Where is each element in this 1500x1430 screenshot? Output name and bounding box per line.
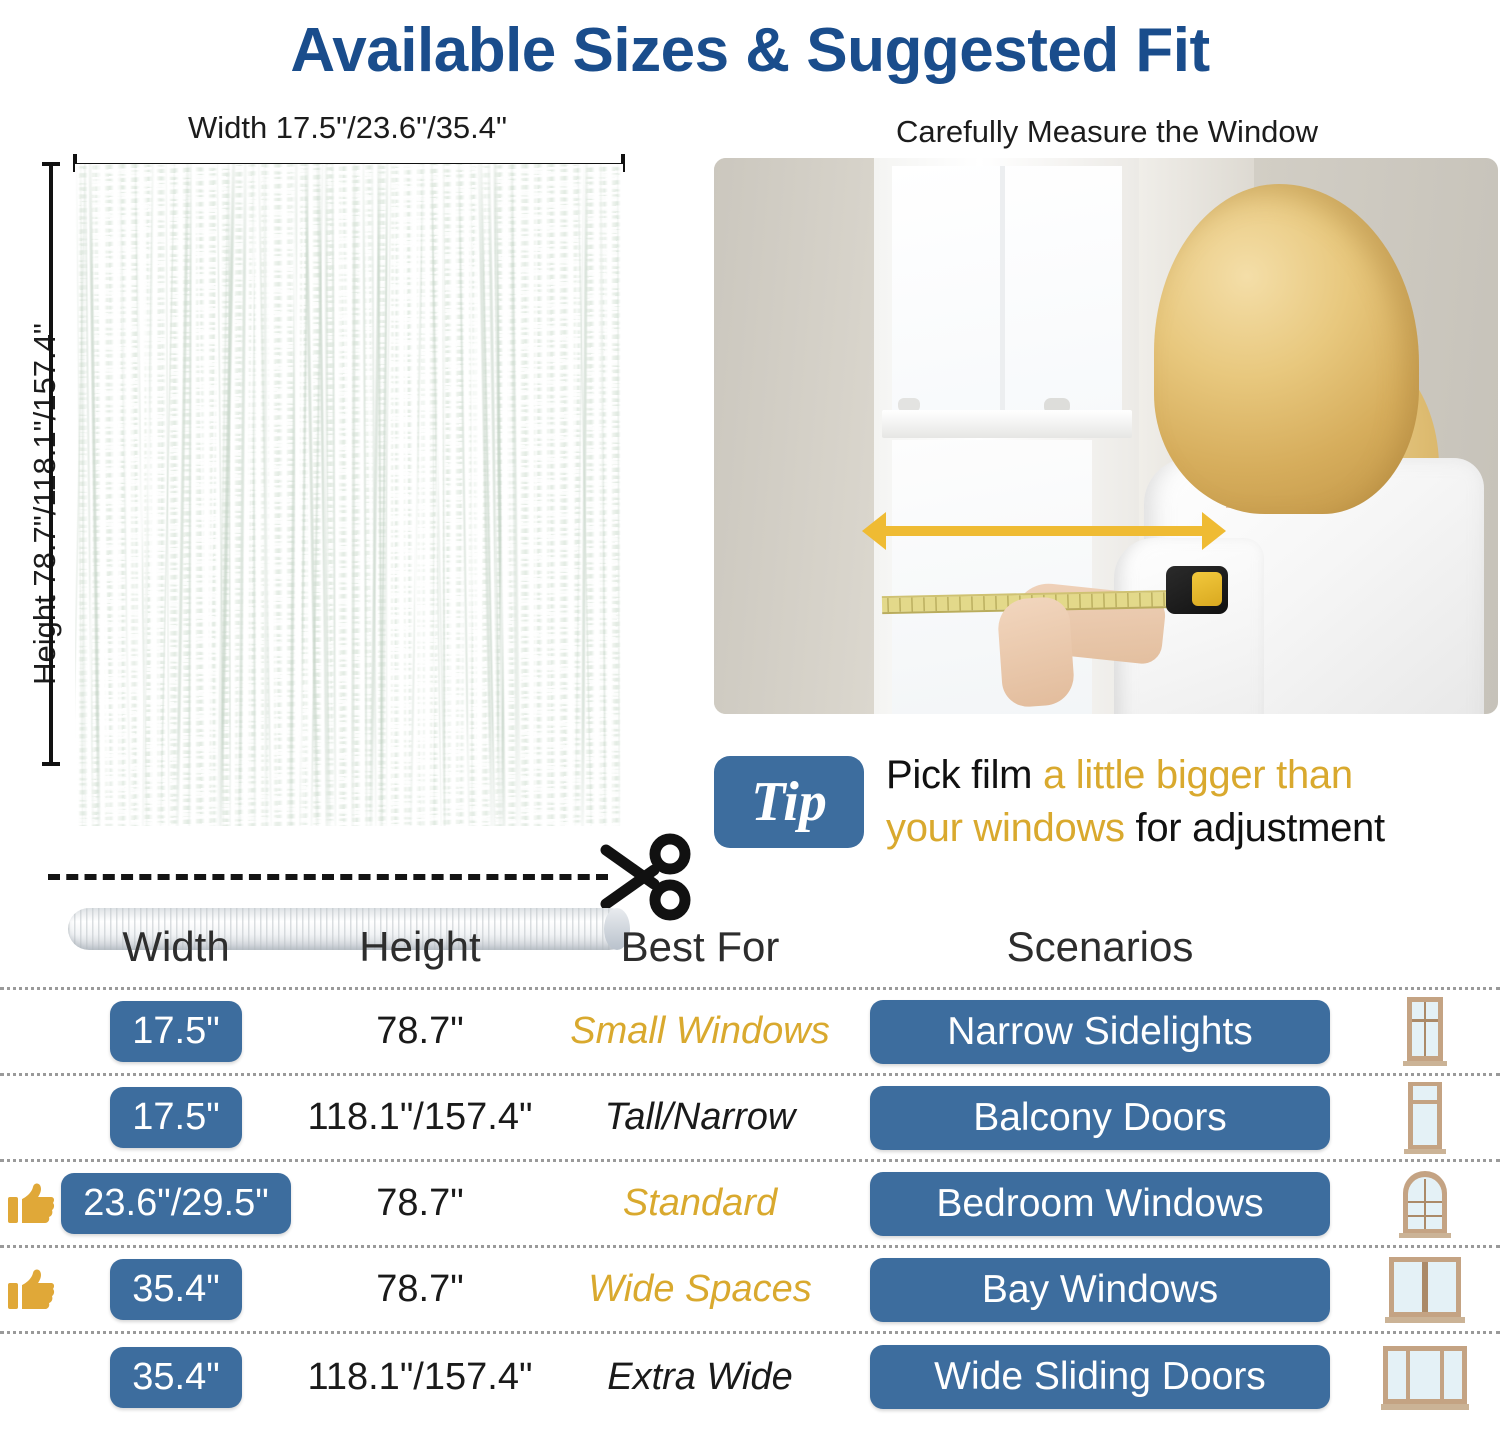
height-dimension-bracket <box>42 162 60 766</box>
window-icon-cell <box>1350 995 1500 1069</box>
height-value: 118.1"/157.4" <box>308 1356 533 1399</box>
arched-window-icon <box>1377 1167 1473 1241</box>
best-for-cell: Small Windows <box>550 1010 850 1053</box>
best-for-value: Standard <box>623 1182 777 1225</box>
size-table: Width Height Best For Scenarios 17.5"78.… <box>0 906 1500 1420</box>
best-for-cell: Standard <box>550 1182 850 1225</box>
scenario-badge: Narrow Sidelights <box>870 1000 1330 1064</box>
window-icon-cell <box>1350 1340 1500 1414</box>
scenario-badge: Bedroom Windows <box>870 1172 1330 1236</box>
photo-caption: Carefully Measure the Window <box>714 96 1500 158</box>
width-cell: 17.5" <box>62 1001 290 1062</box>
best-for-value: Tall/Narrow <box>605 1096 796 1139</box>
best-for-value: Wide Spaces <box>588 1268 812 1311</box>
best-for-cell: Extra Wide <box>550 1356 850 1399</box>
tip-badge: Tip <box>714 756 864 848</box>
top-section: Width 17.5"/23.6"/35.4" Height 78.7"/118… <box>0 96 1500 886</box>
width-cell: 23.6"/29.5" <box>62 1173 290 1234</box>
table-header-row: Width Height Best For Scenarios <box>0 906 1500 990</box>
width-cell: 17.5" <box>62 1087 290 1148</box>
width-badge: 17.5" <box>110 1087 241 1148</box>
recommended-cell <box>0 1267 62 1313</box>
film-width-label: Width 17.5"/23.6"/35.4" <box>75 110 620 146</box>
width-badge: 17.5" <box>110 1001 241 1062</box>
header-height: Height <box>359 923 480 971</box>
scenario-cell: Bay Windows <box>850 1258 1350 1322</box>
scenario-cell: Balcony Doors <box>850 1086 1350 1150</box>
width-cell: 35.4" <box>62 1259 290 1320</box>
best-for-value: Small Windows <box>570 1010 829 1053</box>
film-swatch-image <box>75 164 623 826</box>
table-row: 35.4"78.7"Wide SpacesBay Windows <box>0 1248 1500 1334</box>
dashed-cut-line <box>48 874 608 880</box>
height-value: 118.1"/157.4" <box>308 1096 533 1139</box>
header-best-for: Best For <box>621 923 780 971</box>
height-cell: 78.7" <box>290 1182 550 1225</box>
scenario-cell: Bedroom Windows <box>850 1172 1350 1236</box>
film-dimensions-panel: Width 17.5"/23.6"/35.4" Height 78.7"/118… <box>0 96 700 886</box>
height-cell: 78.7" <box>290 1268 550 1311</box>
table-row: 17.5"118.1"/157.4"Tall/NarrowBalcony Doo… <box>0 1076 1500 1162</box>
scenario-badge: Wide Sliding Doors <box>870 1345 1330 1409</box>
scenario-cell: Wide Sliding Doors <box>850 1345 1350 1409</box>
table-row: 17.5"78.7"Small WindowsNarrow Sidelights <box>0 990 1500 1076</box>
thumbs-up-icon <box>7 1181 55 1227</box>
height-cell: 118.1"/157.4" <box>290 1356 550 1399</box>
page-title: Available Sizes & Suggested Fit <box>0 0 1500 96</box>
woman-measuring-window-photo <box>714 158 1498 714</box>
tip-line2-highlight: your windows <box>886 806 1125 850</box>
wide-sliding-door-icon <box>1377 1340 1473 1414</box>
tip-row: Tip Pick film a little bigger than your … <box>714 722 1500 882</box>
header-scenarios: Scenarios <box>1007 923 1194 971</box>
window-icon-cell <box>1350 1167 1500 1241</box>
thumbs-up-icon <box>7 1267 55 1313</box>
height-value: 78.7" <box>376 1010 463 1053</box>
tip-line1-plain: Pick film <box>886 753 1043 797</box>
scenario-badge: Balcony Doors <box>870 1086 1330 1150</box>
height-cell: 118.1"/157.4" <box>290 1096 550 1139</box>
tip-line1-highlight: a little bigger than <box>1043 753 1353 797</box>
window-icon-cell <box>1350 1253 1500 1327</box>
tip-line2-plain: for adjustment <box>1125 806 1385 850</box>
best-for-value: Extra Wide <box>607 1356 793 1399</box>
scenario-cell: Narrow Sidelights <box>850 1000 1350 1064</box>
table-row: 35.4"118.1"/157.4"Extra WideWide Sliding… <box>0 1334 1500 1420</box>
width-cell: 35.4" <box>62 1347 290 1408</box>
best-for-cell: Wide Spaces <box>550 1268 850 1311</box>
tall-narrow-door-icon <box>1377 1081 1473 1155</box>
header-width: Width <box>122 923 229 971</box>
tip-text: Pick film a little bigger than your wind… <box>886 749 1385 855</box>
thumbs-up-icon <box>7 1181 55 1227</box>
narrow-sash-window-icon <box>1377 995 1473 1069</box>
thumbs-up-icon <box>7 1267 55 1313</box>
height-value: 78.7" <box>376 1182 463 1225</box>
height-cell: 78.7" <box>290 1010 550 1053</box>
width-badge: 35.4" <box>110 1347 241 1408</box>
double-arrow-icon <box>884 526 1204 536</box>
table-row: 23.6"/29.5"78.7"StandardBedroom Windows <box>0 1162 1500 1248</box>
height-value: 78.7" <box>376 1268 463 1311</box>
best-for-cell: Tall/Narrow <box>550 1096 850 1139</box>
double-casement-window-icon <box>1377 1253 1473 1327</box>
scenario-badge: Bay Windows <box>870 1258 1330 1322</box>
width-badge: 23.6"/29.5" <box>61 1173 290 1234</box>
width-badge: 35.4" <box>110 1259 241 1320</box>
window-icon-cell <box>1350 1081 1500 1155</box>
recommended-cell <box>0 1181 62 1227</box>
